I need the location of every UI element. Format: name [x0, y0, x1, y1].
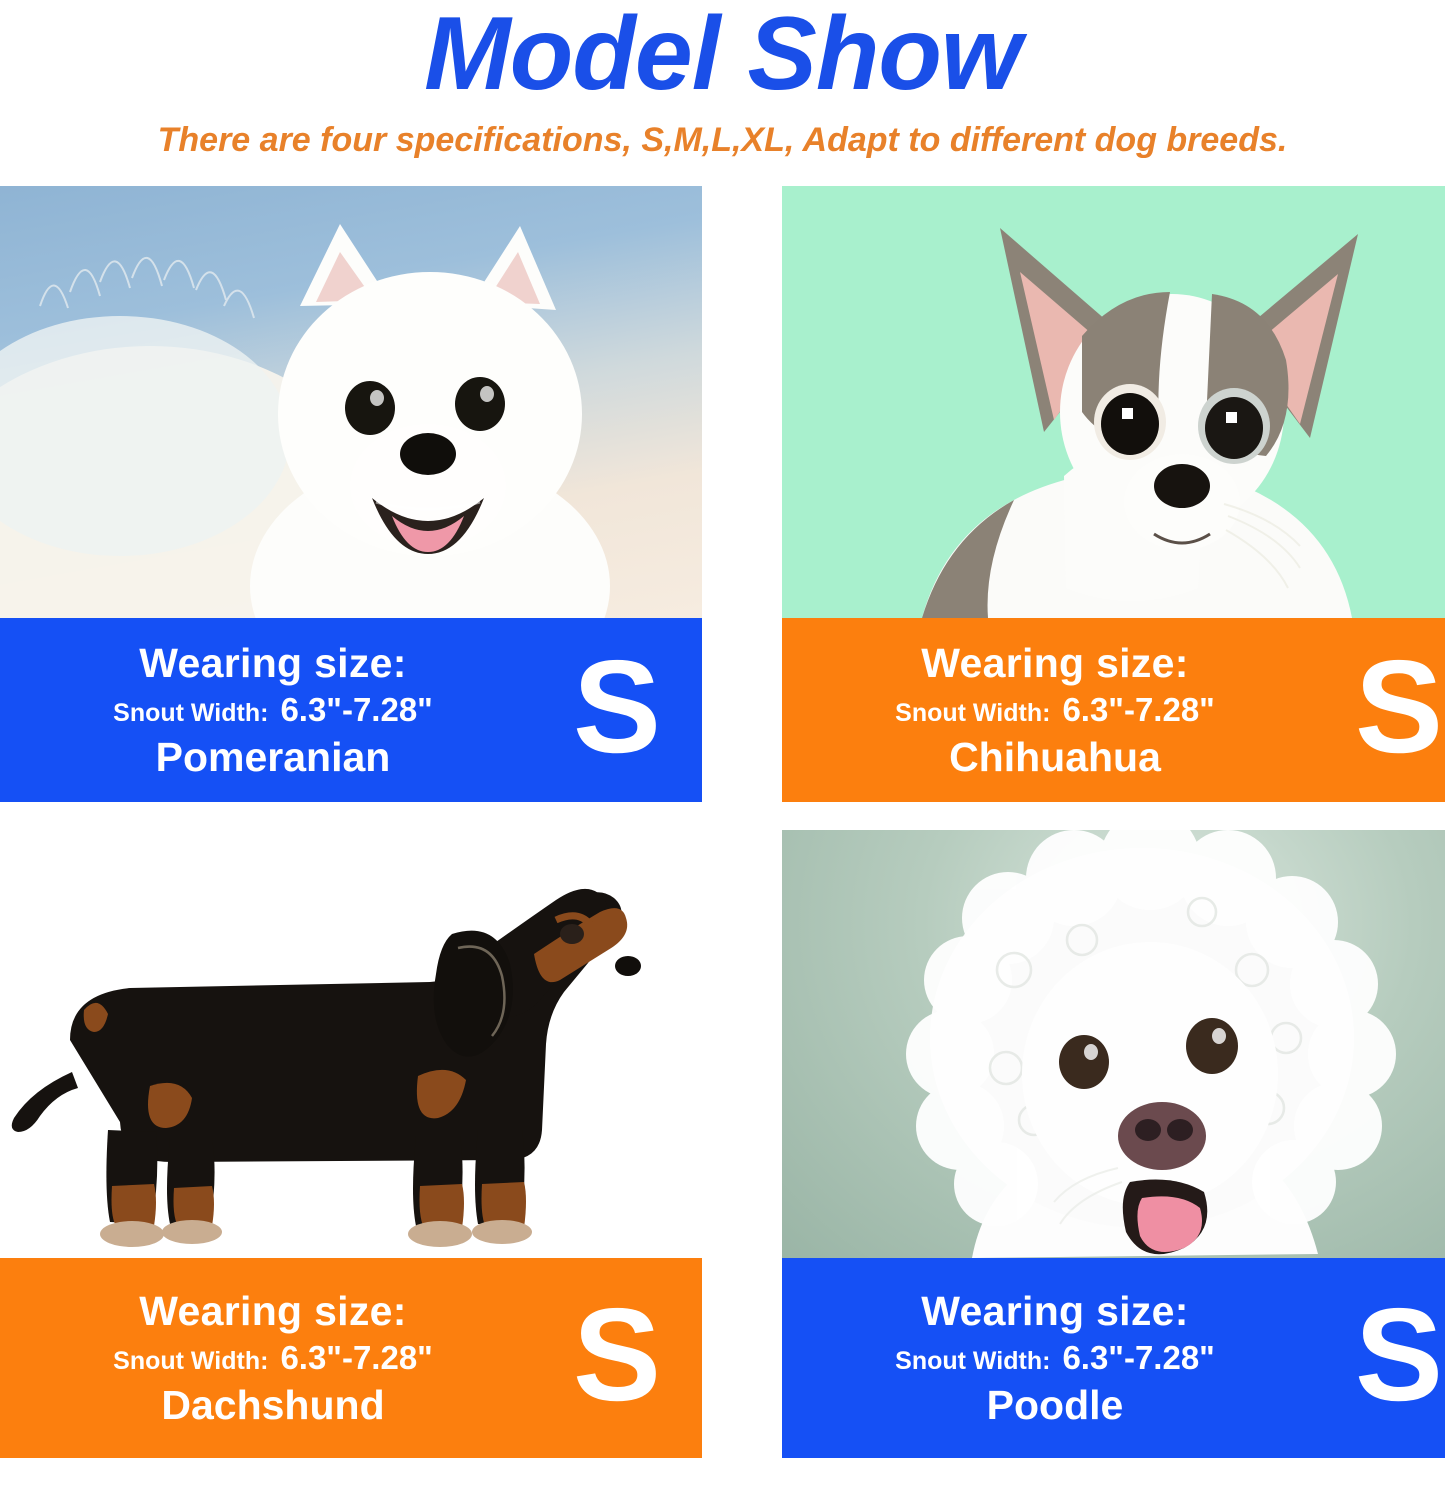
breed-card-dachshund: Wearing size: Snout Width: 6.3"-7.28" Da…: [0, 830, 702, 1486]
caption-bar-dachshund: Wearing size: Snout Width: 6.3"-7.28" Da…: [0, 1258, 702, 1458]
pomeranian-illustration: [0, 186, 702, 618]
snout-width-label: Snout Width:: [895, 696, 1050, 730]
size-badge: S: [1314, 641, 1445, 779]
breed-name: Dachshund: [161, 1380, 384, 1430]
model-show-infographic: Model Show There are four specifications…: [0, 0, 1445, 1458]
page-title: Model Show: [0, 0, 1445, 106]
breed-card-poodle: Wearing size: Snout Width: 6.3"-7.28" Po…: [782, 830, 1445, 1486]
breed-card-pomeranian: Wearing size: Snout Width: 6.3"-7.28" Po…: [0, 186, 702, 802]
photo-chihuahua: [782, 186, 1445, 618]
size-badge: S: [1314, 1289, 1445, 1427]
wearing-size-label: Wearing size:: [139, 1286, 406, 1336]
caption-text: Wearing size: Snout Width: 6.3"-7.28" Po…: [0, 638, 532, 782]
snout-width-label: Snout Width:: [895, 1344, 1050, 1378]
photo-pomeranian: [0, 186, 702, 618]
caption-bar-poodle: Wearing size: Snout Width: 6.3"-7.28" Po…: [782, 1258, 1445, 1458]
caption-bar-pomeranian: Wearing size: Snout Width: 6.3"-7.28" Po…: [0, 618, 702, 802]
snout-width-label: Snout Width:: [113, 696, 268, 730]
snout-width-value: 6.3"-7.28": [1062, 1340, 1214, 1376]
snout-width-value: 6.3"-7.28": [1062, 692, 1214, 728]
poodle-illustration: [782, 830, 1445, 1258]
snout-width-row: Snout Width: 6.3"-7.28": [895, 1340, 1215, 1378]
snout-width-row: Snout Width: 6.3"-7.28": [113, 1340, 433, 1378]
photo-dachshund: [0, 830, 702, 1258]
dachshund-illustration: [0, 830, 702, 1258]
caption-text: Wearing size: Snout Width: 6.3"-7.28" Ch…: [782, 638, 1314, 782]
wearing-size-label: Wearing size:: [921, 1286, 1188, 1336]
photo-poodle: [782, 830, 1445, 1258]
snout-width-row: Snout Width: 6.3"-7.28": [113, 692, 433, 730]
snout-width-label: Snout Width:: [113, 1344, 268, 1378]
caption-text: Wearing size: Snout Width: 6.3"-7.28" Po…: [782, 1286, 1314, 1430]
wearing-size-label: Wearing size:: [921, 638, 1188, 688]
breed-name: Pomeranian: [156, 732, 391, 782]
wearing-size-label: Wearing size:: [139, 638, 406, 688]
snout-width-value: 6.3"-7.28": [280, 1340, 432, 1376]
chihuahua-illustration: [782, 186, 1445, 618]
snout-width-value: 6.3"-7.28": [280, 692, 432, 728]
caption-text: Wearing size: Snout Width: 6.3"-7.28" Da…: [0, 1286, 532, 1430]
caption-bar-chihuahua: Wearing size: Snout Width: 6.3"-7.28" Ch…: [782, 618, 1445, 802]
header: Model Show There are four specifications…: [0, 0, 1445, 160]
breed-name: Poodle: [987, 1380, 1124, 1430]
page-subtitle: There are four specifications, S,M,L,XL,…: [0, 120, 1445, 160]
breed-card-chihuahua: Wearing size: Snout Width: 6.3"-7.28" Ch…: [782, 186, 1445, 802]
size-badge: S: [532, 1289, 702, 1427]
size-badge: S: [532, 641, 702, 779]
snout-width-row: Snout Width: 6.3"-7.28": [895, 692, 1215, 730]
breed-name: Chihuahua: [949, 732, 1161, 782]
breed-grid: Wearing size: Snout Width: 6.3"-7.28" Po…: [0, 186, 1445, 1458]
